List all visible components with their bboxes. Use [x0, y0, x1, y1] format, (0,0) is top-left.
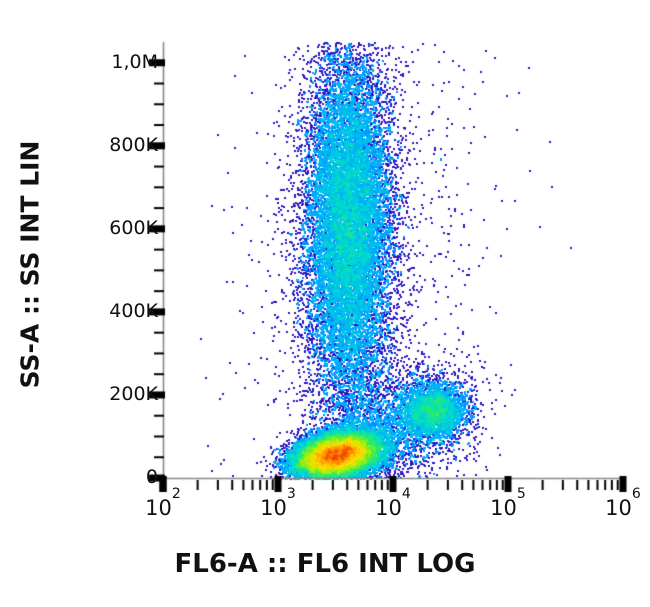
x-tick-mantissa: 10 — [260, 496, 287, 520]
flow-cytometry-plot: 0200K400K600K800K1,0M 102103104105106 SS… — [0, 0, 650, 607]
x-tick-label: 104 — [375, 496, 411, 519]
x-tick-label: 103 — [260, 496, 296, 519]
x-tick-mantissa: 10 — [490, 496, 517, 520]
x-tick-exponent: 2 — [172, 486, 181, 502]
x-tick-label: 105 — [490, 496, 526, 519]
x-tick-exponent: 4 — [402, 486, 411, 502]
x-axis-title: FL6-A :: FL6 INT LOG — [0, 549, 650, 579]
x-tick-exponent: 3 — [287, 486, 296, 502]
x-tick-label: 102 — [145, 496, 181, 519]
x-tick-label: 106 — [605, 496, 641, 519]
x-tick-mantissa: 10 — [375, 496, 402, 520]
x-tick-labels: 102103104105106 — [0, 0, 650, 607]
y-axis-title: SS-A :: SS INT LIN — [16, 95, 45, 435]
x-tick-exponent: 5 — [517, 486, 526, 502]
x-tick-mantissa: 10 — [605, 496, 632, 520]
x-tick-exponent: 6 — [632, 486, 641, 502]
x-tick-mantissa: 10 — [145, 496, 172, 520]
